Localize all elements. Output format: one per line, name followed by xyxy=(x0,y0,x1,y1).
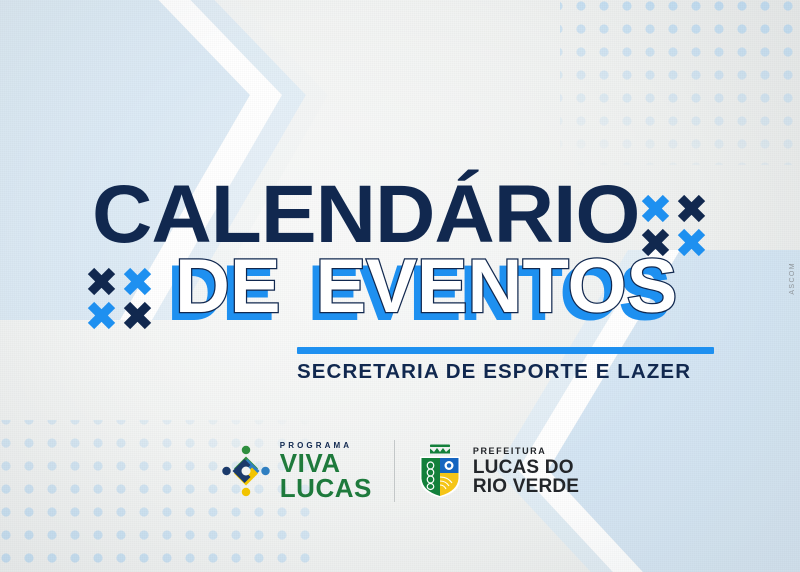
x-group-right xyxy=(645,198,702,253)
x-mark-blue xyxy=(681,232,702,253)
x-mark-navy xyxy=(681,198,702,219)
viva-line-2: LUCAS xyxy=(280,476,372,501)
x-group-left xyxy=(91,271,148,326)
x-mark-blue xyxy=(91,305,112,326)
x-mark-blue xyxy=(127,271,148,292)
prefeitura-kicker: PREFEITURA xyxy=(473,446,579,456)
crown-icon xyxy=(430,445,450,454)
x-mark-navy xyxy=(91,271,112,292)
x-mark-navy xyxy=(645,232,666,253)
prefeitura-wordmark: PREFEITURA LUCAS DO RIO VERDE xyxy=(473,446,579,497)
prefeitura-line-2: RIO VERDE xyxy=(473,477,579,497)
logo-divider xyxy=(394,440,395,502)
prefeitura-line-1: LUCAS DO xyxy=(473,458,579,478)
logo-row: PROGRAMA VIVA LUCAS xyxy=(0,432,800,510)
x-mark-blue xyxy=(645,198,666,219)
coat-of-arms-shield-icon xyxy=(417,443,463,499)
viva-lucas-logo: PROGRAMA VIVA LUCAS xyxy=(221,441,372,501)
event-calendar-poster: CALENDÁRIO DE DE EVENTOS EVENTOS SECRETA… xyxy=(0,0,800,572)
ascom-credit: ASCOM xyxy=(789,262,796,295)
viva-lucas-wordmark: PROGRAMA VIVA LUCAS xyxy=(280,441,372,501)
x-mark-navy xyxy=(127,305,148,326)
people-pinwheel-icon xyxy=(221,445,271,497)
prefeitura-logo: PREFEITURA LUCAS DO RIO VERDE xyxy=(417,443,579,499)
